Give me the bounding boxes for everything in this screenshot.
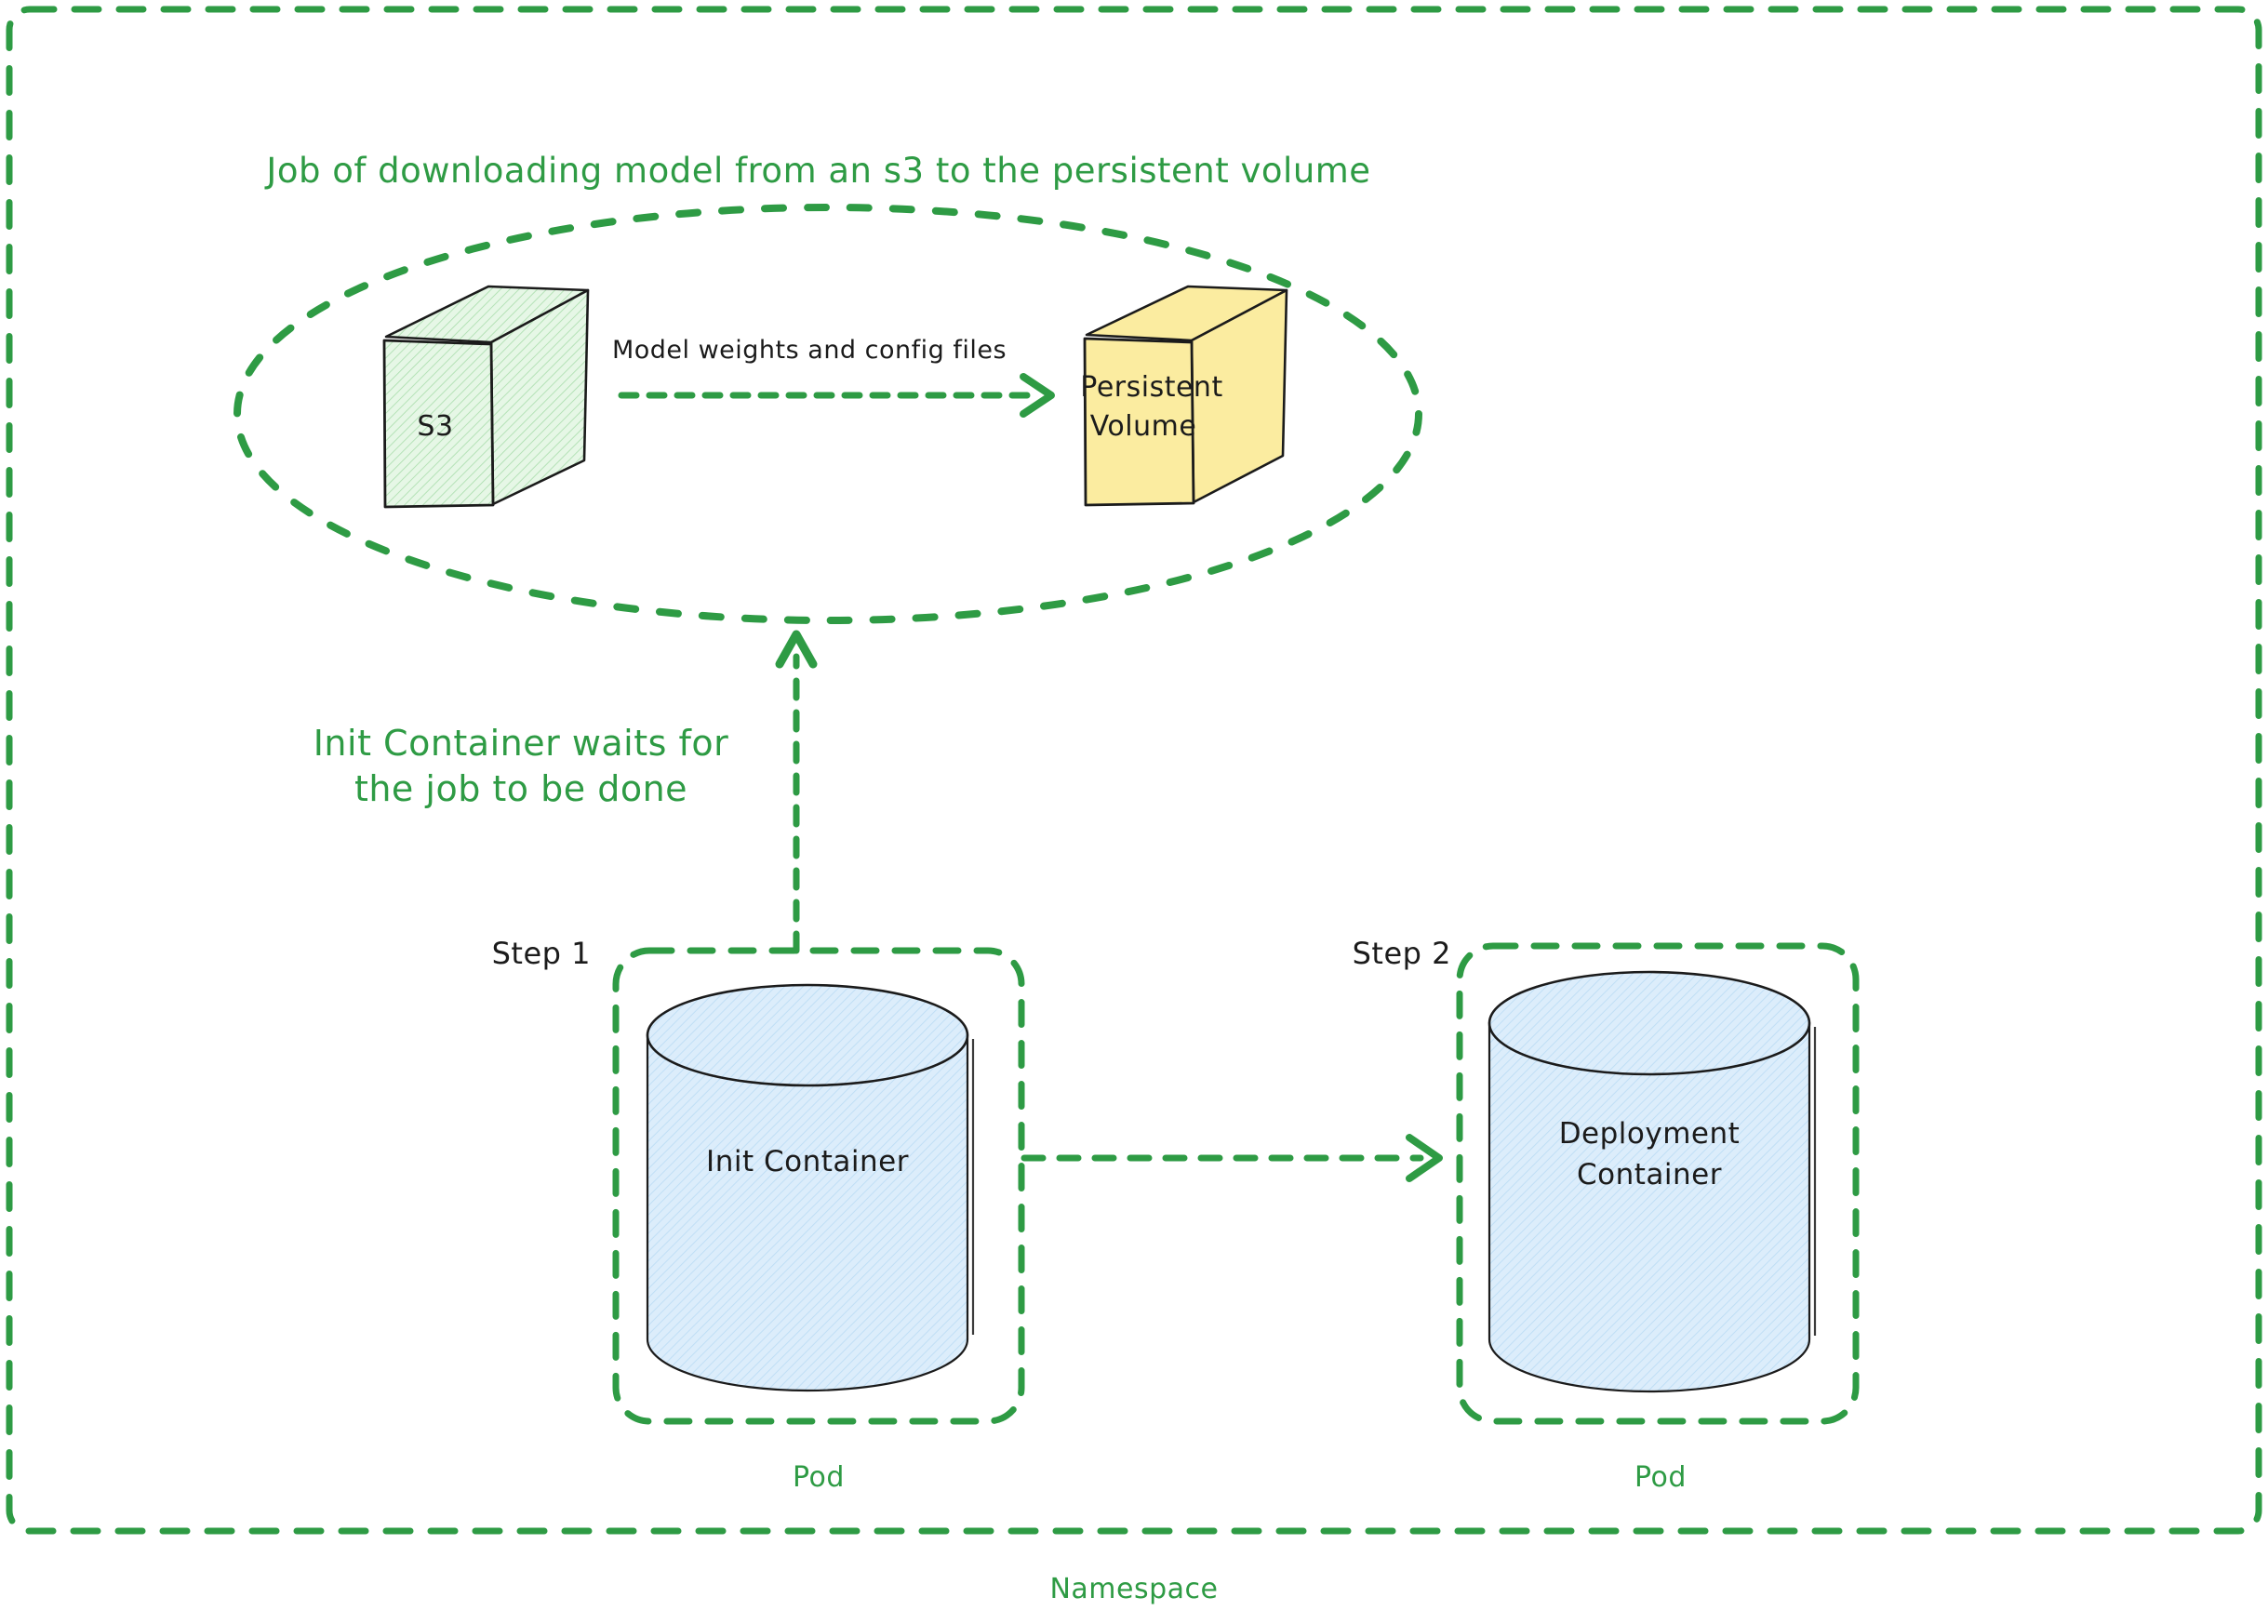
step-2-label: Step 2 <box>1288 935 1451 973</box>
wait-annotation-line2: the job to be done <box>270 766 772 812</box>
namespace-zone-label: Namespace <box>892 1572 1376 1607</box>
persistent-volume-cube-label-line1: Persistent <box>1069 370 1234 406</box>
step-1-label: Step 1 <box>428 935 591 973</box>
pod-1-zone-label: Pod <box>670 1460 967 1496</box>
wait-annotation: Init Container waits for the job to be d… <box>270 721 772 811</box>
transfer-edge-label: Model weights and config files <box>595 335 1023 367</box>
pod-2-zone-label: Pod <box>1512 1460 1809 1496</box>
persistent-volume-cube[interactable]: Persistent Volume <box>1074 279 1316 521</box>
init-container-label: Init Container <box>642 1144 973 1181</box>
deployment-container-label-line1: Deployment <box>1484 1116 1815 1153</box>
s3-cube-label: S3 <box>378 409 493 445</box>
edge-s3-to-persistent-volume-arrow <box>614 367 1079 423</box>
wait-annotation-line1: Init Container waits for <box>270 721 772 766</box>
edge-pod1-to-pod2-arrow <box>1019 1130 1465 1186</box>
page-title: Job of downloading model from an s3 to t… <box>223 149 1414 193</box>
s3-cube[interactable]: S3 <box>372 279 623 521</box>
edge-init-container-to-job-arrow <box>763 623 837 958</box>
init-container-cylinder[interactable]: Init Container <box>642 991 995 1386</box>
persistent-volume-cube-label-line2: Volume <box>1069 409 1218 445</box>
deployment-container-cylinder[interactable]: Deployment Container <box>1484 975 1837 1391</box>
deployment-container-label-line2: Container <box>1484 1157 1815 1194</box>
diagram-canvas: Job of downloading model from an s3 to t… <box>0 0 2268 1624</box>
